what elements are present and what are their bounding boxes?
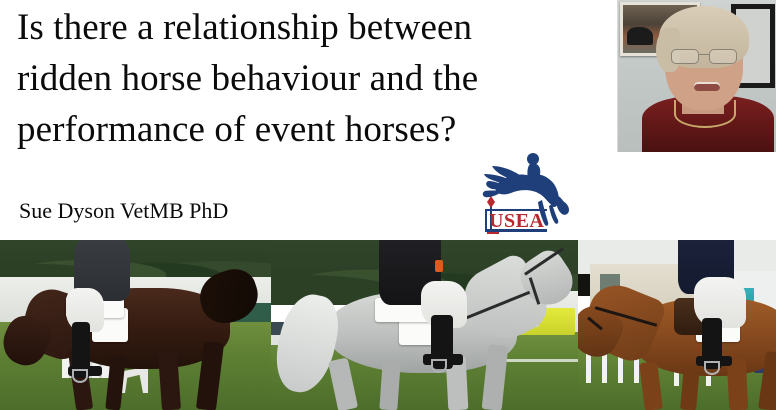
presentation-slide: Is there a relationship between ridden h…: [0, 0, 776, 410]
photo-strip: [0, 240, 776, 410]
usea-logo-icon: USEA: [470, 148, 570, 236]
webcam-video-feed[interactable]: [617, 0, 776, 152]
photo-chestnut-horse: [578, 240, 776, 410]
speaker-mouth: [694, 82, 720, 91]
speaker-glasses: [670, 49, 738, 62]
photo-grey-horse: [271, 240, 578, 410]
page-title: Is there a relationship between ridden h…: [17, 2, 617, 155]
title-line-1: Is there a relationship between: [17, 2, 617, 53]
title-line-2: ridden horse behaviour and the: [17, 53, 617, 104]
usea-logo: USEA: [470, 148, 570, 236]
svg-text:USEA: USEA: [489, 210, 544, 232]
presenter-name: Sue Dyson VetMB PhD: [19, 196, 228, 226]
photo-dark-bay-horse: [0, 240, 271, 410]
